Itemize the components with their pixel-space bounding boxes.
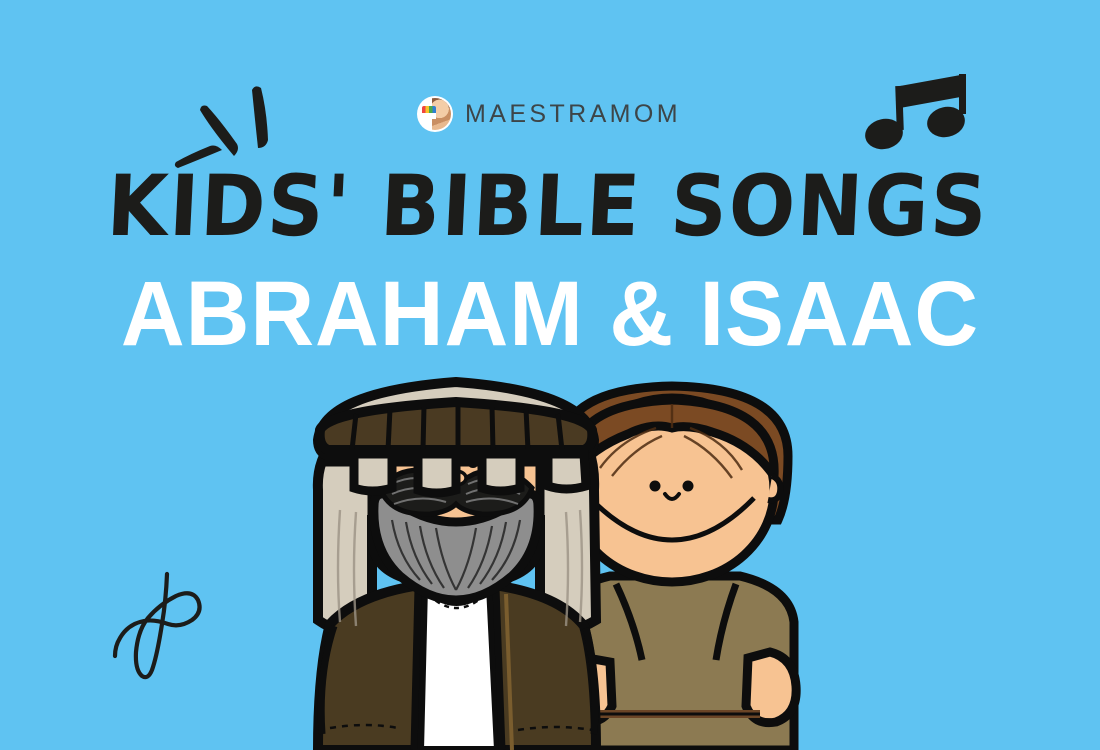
avatar-logo-tile	[422, 106, 436, 119]
music-note-icon	[858, 62, 978, 162]
abraham-and-isaac-illustration	[0, 370, 1100, 750]
profile-avatar-icon	[419, 98, 451, 130]
sparkle-burst-icon	[160, 78, 290, 182]
page-title: ABRAHAM & ISAAC	[22, 268, 1078, 360]
abraham-character	[318, 382, 596, 750]
poster-canvas: MAESTRAMOM KIDS' BIBLE SONGS ABRAHAM & I…	[0, 0, 1100, 750]
brand-name: MAESTRAMOM	[465, 102, 681, 127]
